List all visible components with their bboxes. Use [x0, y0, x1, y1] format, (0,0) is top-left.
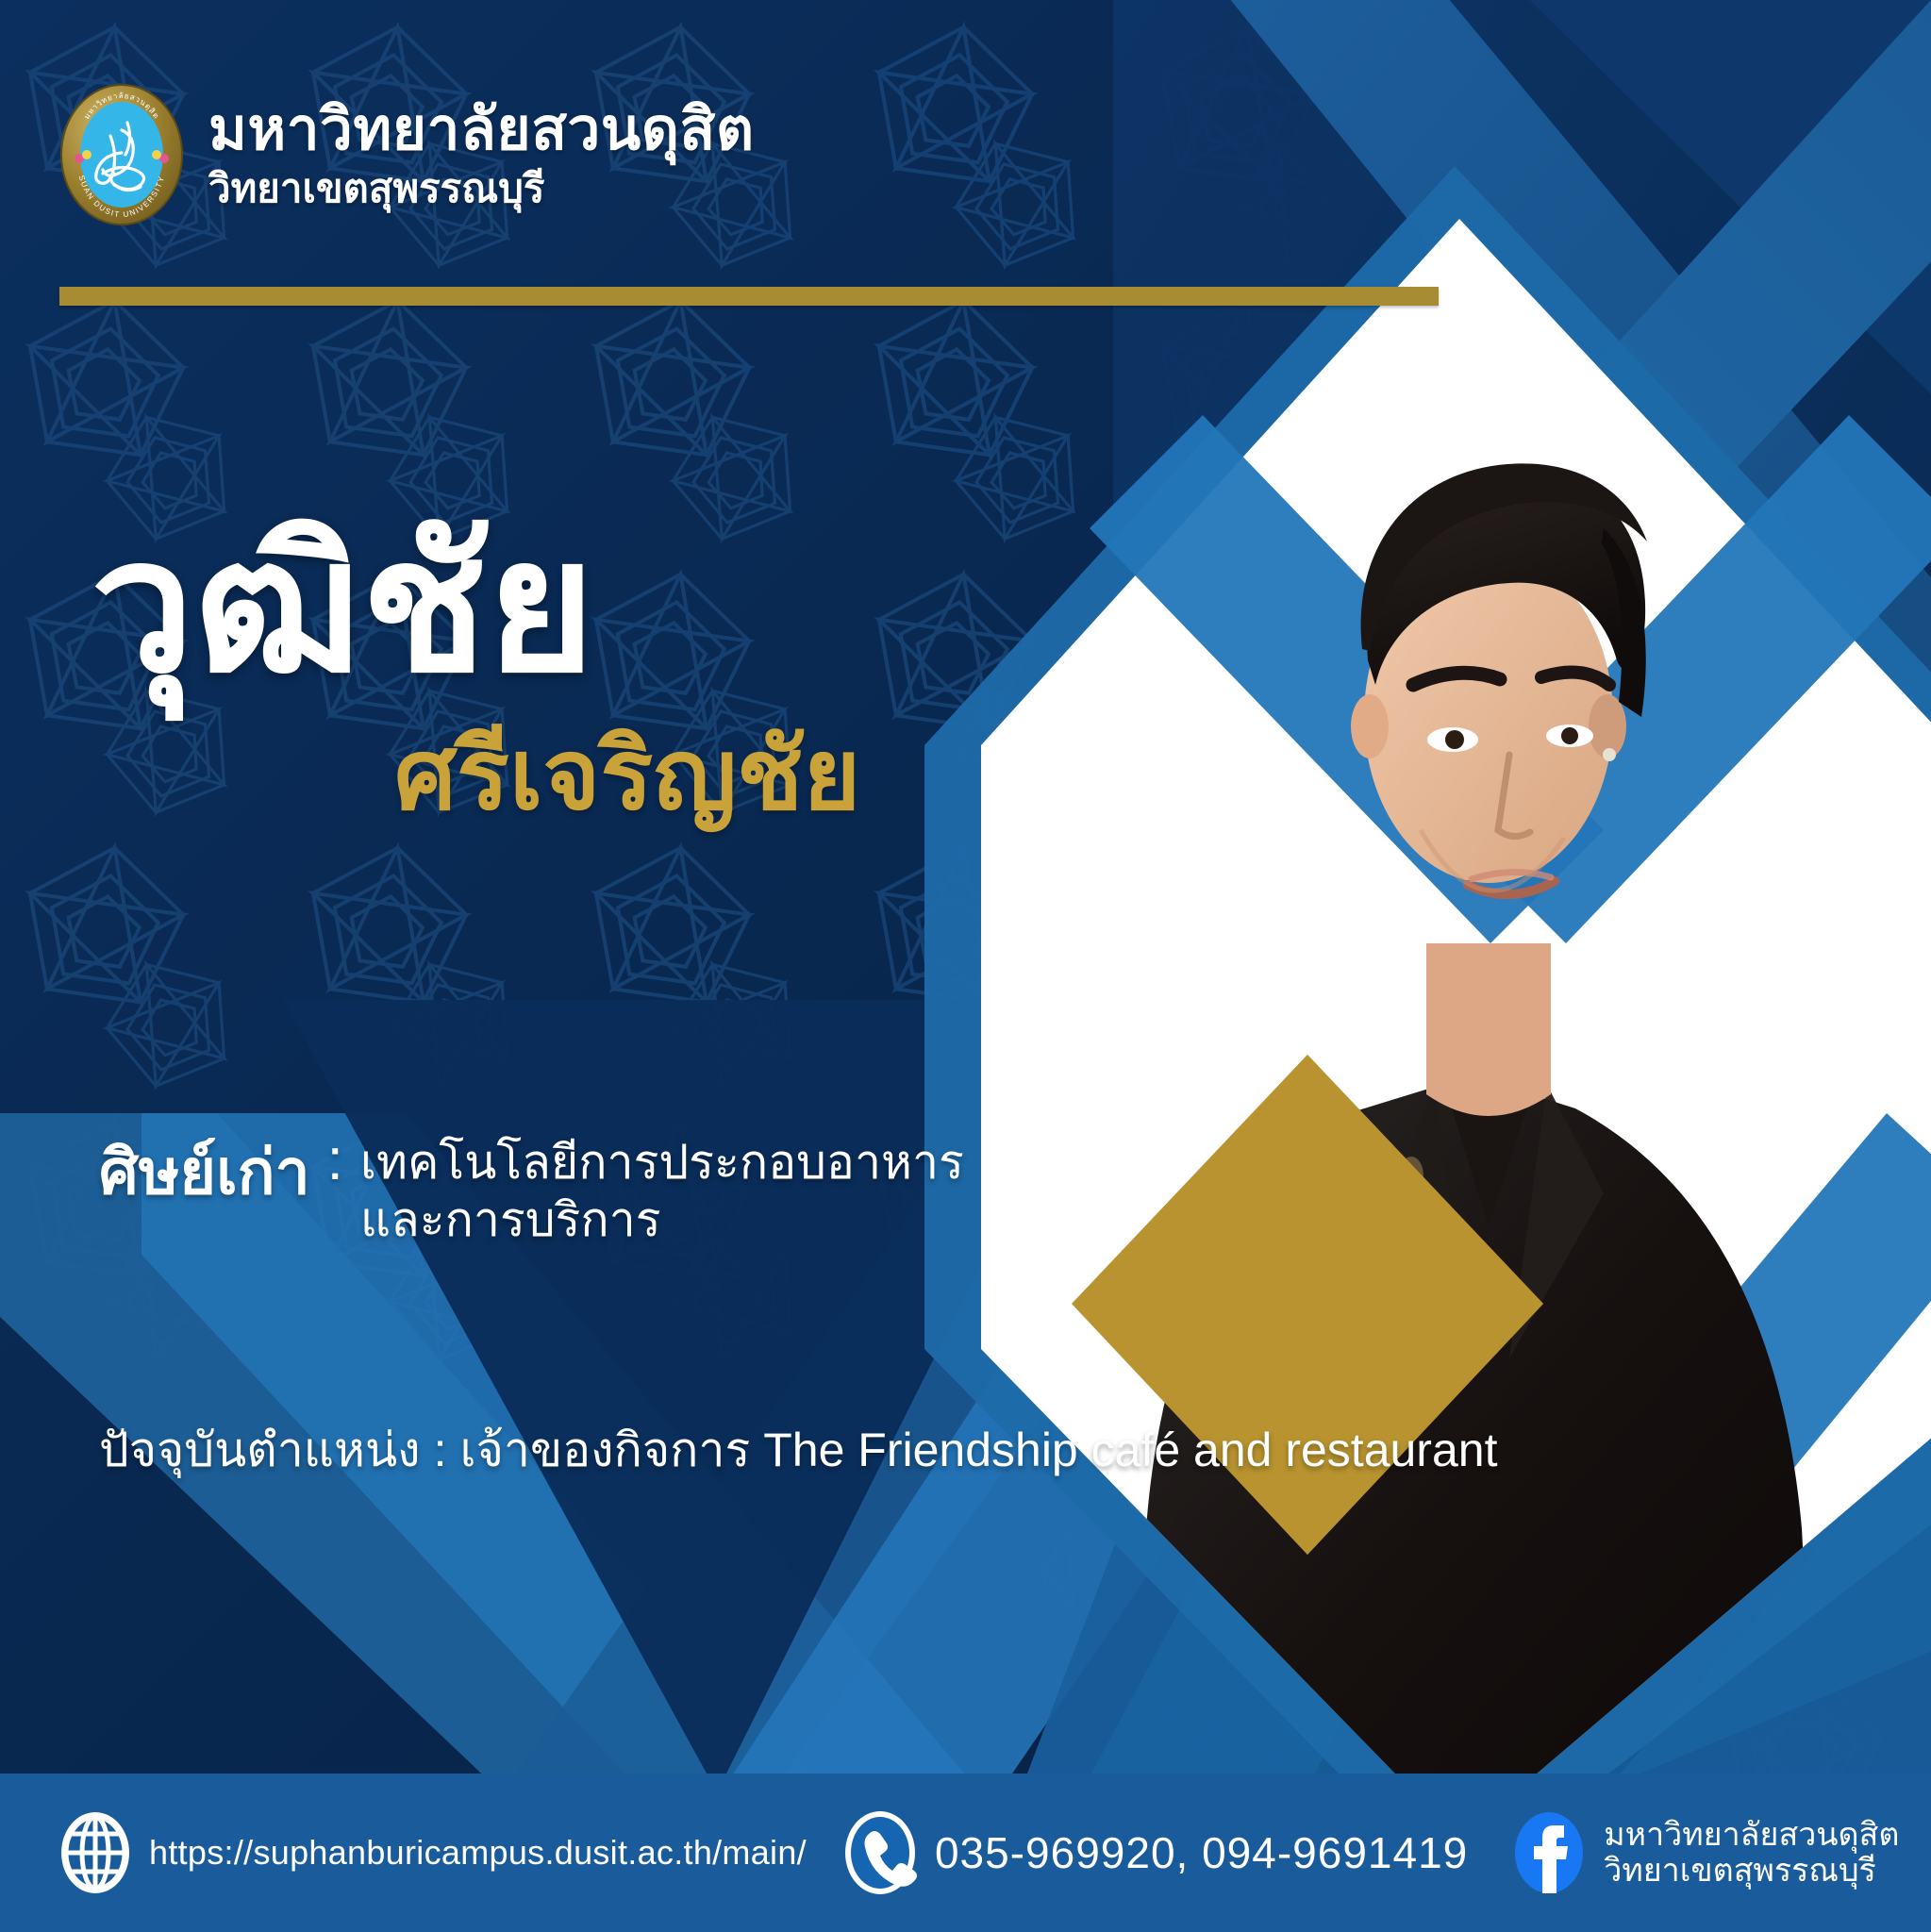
alumni-value: เทคโนโลยีการประกอบอาหาร และการบริการ [360, 1123, 964, 1249]
phone-icon [842, 1809, 918, 1896]
university-name: มหาวิทยาลัยสวนดุสิต [208, 101, 755, 159]
brand-header: มหาวิทยาลัยสวนดุสิต SUAN DUSIT UNIVERSIT… [59, 83, 755, 226]
facebook-icon [1511, 1809, 1587, 1896]
position-info-row: ปัจจุบันตำแหน่ง : เจ้าของกิจการ The Frie… [99, 1413, 1497, 1488]
alumni-label: ศิษย์เก่า [99, 1123, 310, 1222]
facebook-line-1: มหาวิทยาลัยสวนดุสิต [1604, 1817, 1899, 1853]
contact-footer: https://suphanburicampus.dusit.ac.th/mai… [0, 1774, 1931, 1932]
gold-divider-rule [59, 287, 1439, 306]
alumni-value-line-1: เทคโนโลยีการประกอบอาหาร [360, 1134, 964, 1191]
footer-website[interactable]: https://suphanburicampus.dusit.ac.th/mai… [58, 1809, 807, 1896]
alumni-colon: : [327, 1123, 343, 1193]
facebook-name: มหาวิทยาลัยสวนดุสิต วิทยาเขตสุพรรณบุรี [1604, 1817, 1899, 1889]
suan-dusit-logo: มหาวิทยาลัยสวนดุสิต SUAN DUSIT UNIVERSIT… [59, 83, 184, 226]
person-last-name: ศรีเจริญชัย [394, 726, 860, 824]
position-label: ปัจจุบันตำแหน่ง [99, 1413, 421, 1488]
footer-facebook[interactable]: มหาวิทยาลัยสวนดุสิต วิทยาเขตสุพรรณบุรี [1511, 1809, 1899, 1896]
alumni-info-row: ศิษย์เก่า : เทคโนโลยีการประกอบอาหาร และก… [99, 1123, 964, 1249]
footer-phone[interactable]: 035-969920, 094-9691419 [842, 1809, 1468, 1896]
globe-icon [58, 1809, 132, 1896]
position-value: เจ้าของกิจการ The Friendship café and re… [459, 1413, 1497, 1488]
alumni-profile-poster: มหาวิทยาลัยสวนดุสิต SUAN DUSIT UNIVERSIT… [0, 0, 1931, 1932]
website-url: https://suphanburicampus.dusit.ac.th/mai… [149, 1833, 807, 1873]
brand-text: มหาวิทยาลัยสวนดุสิต วิทยาเขตสุพรรณบุรี [208, 101, 755, 208]
alumni-value-line-2: และการบริการ [360, 1191, 964, 1249]
phone-number: 035-969920, 094-9691419 [935, 1827, 1468, 1878]
campus-name: วิทยาเขตสุพรรณบุรี [208, 169, 755, 208]
person-first-name: วุฒิชัย [91, 514, 595, 699]
position-colon: : [434, 1423, 447, 1477]
facebook-line-2: วิทยาเขตสุพรรณบุรี [1604, 1853, 1899, 1889]
